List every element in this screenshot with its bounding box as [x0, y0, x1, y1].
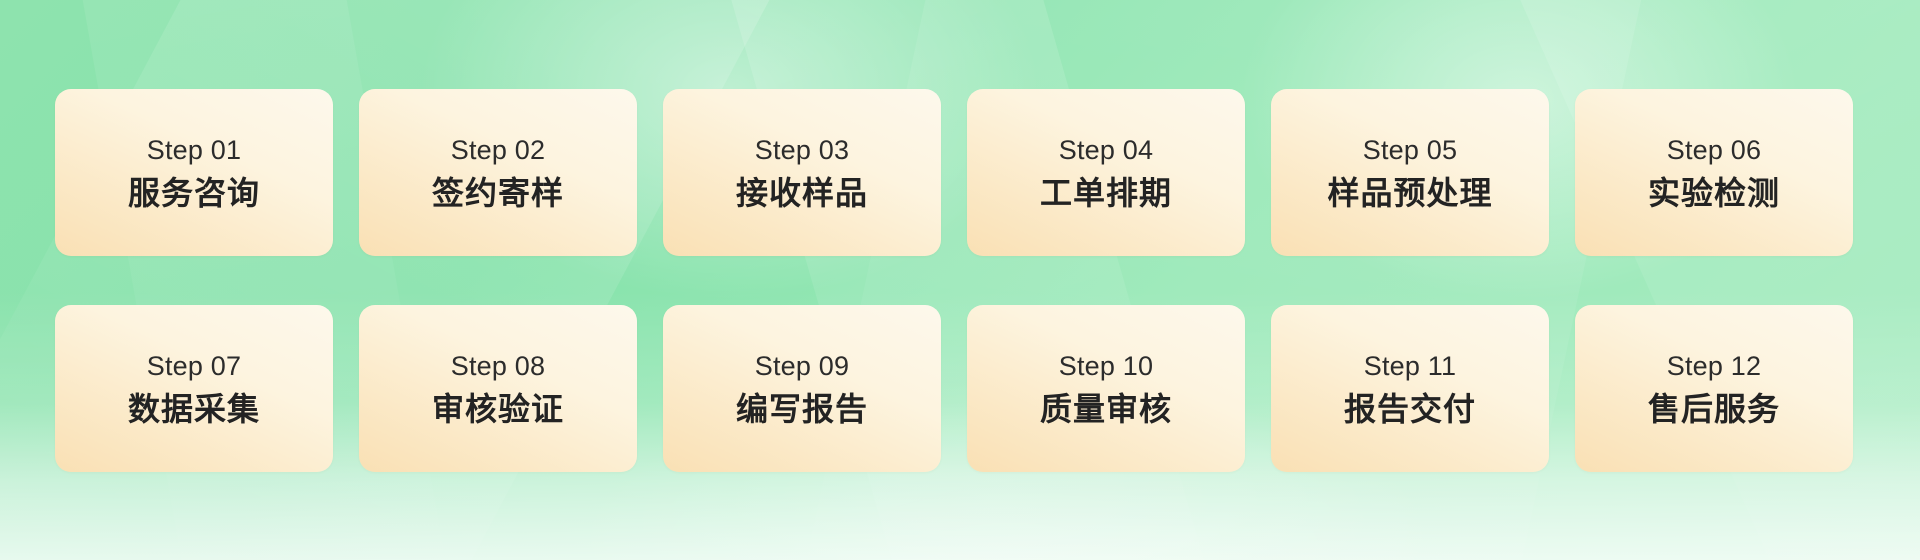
step-number: Step 11 — [1364, 353, 1456, 380]
process-step-card-10[interactable]: Step 10 质量审核 — [967, 305, 1245, 472]
process-step-card-3[interactable]: Step 03 接收样品 — [663, 89, 941, 256]
process-step-grid: Step 01 服务咨询 Step 02 签约寄样 Step 03 接收样品 S… — [55, 89, 1853, 472]
step-label: 编写报告 — [736, 393, 868, 425]
process-step-card-11[interactable]: Step 11 报告交付 — [1271, 305, 1549, 472]
process-step-card-6[interactable]: Step 06 实验检测 — [1575, 89, 1853, 256]
step-label: 售后服务 — [1648, 393, 1780, 425]
step-number: Step 10 — [1059, 353, 1153, 380]
process-step-card-8[interactable]: Step 08 审核验证 — [359, 305, 637, 472]
process-step-card-12[interactable]: Step 12 售后服务 — [1575, 305, 1853, 472]
step-number: Step 04 — [1059, 137, 1153, 164]
step-label: 数据采集 — [128, 393, 260, 425]
step-number: Step 02 — [451, 137, 545, 164]
step-label: 报告交付 — [1344, 393, 1476, 425]
step-number: Step 09 — [755, 353, 849, 380]
step-number: Step 03 — [755, 137, 849, 164]
process-step-card-9[interactable]: Step 09 编写报告 — [663, 305, 941, 472]
step-label: 质量审核 — [1040, 393, 1172, 425]
process-flow-banner: Step 01 服务咨询 Step 02 签约寄样 Step 03 接收样品 S… — [0, 0, 1920, 560]
step-number: Step 12 — [1667, 353, 1761, 380]
process-step-card-4[interactable]: Step 04 工单排期 — [967, 89, 1245, 256]
step-label: 审核验证 — [432, 393, 564, 425]
process-step-card-5[interactable]: Step 05 样品预处理 — [1271, 89, 1549, 256]
process-step-card-7[interactable]: Step 07 数据采集 — [55, 305, 333, 472]
step-label: 工单排期 — [1040, 177, 1172, 209]
step-number: Step 06 — [1667, 137, 1761, 164]
step-label: 样品预处理 — [1327, 177, 1492, 209]
step-number: Step 05 — [1363, 137, 1457, 164]
step-label: 签约寄样 — [432, 177, 564, 209]
process-step-card-1[interactable]: Step 01 服务咨询 — [55, 89, 333, 256]
step-number: Step 01 — [147, 137, 241, 164]
step-label: 服务咨询 — [128, 177, 260, 209]
step-label: 实验检测 — [1648, 177, 1780, 209]
step-number: Step 07 — [147, 353, 241, 380]
process-step-card-2[interactable]: Step 02 签约寄样 — [359, 89, 637, 256]
step-label: 接收样品 — [736, 177, 868, 209]
step-number: Step 08 — [451, 353, 545, 380]
